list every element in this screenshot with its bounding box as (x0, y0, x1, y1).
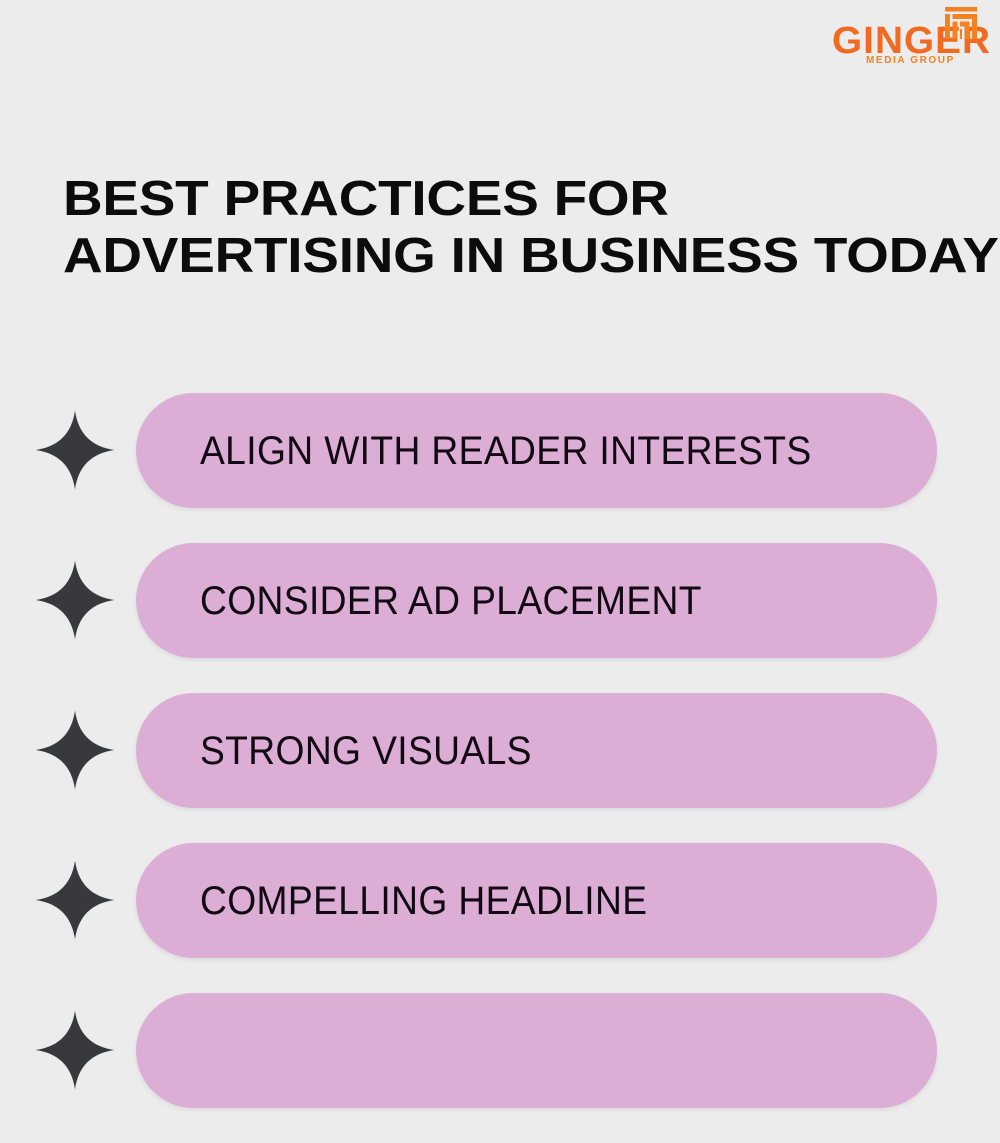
list-item[interactable]: ALIGN WITH READER INTERESTS (0, 393, 1000, 508)
four-point-star-icon (34, 859, 116, 941)
brand-logo[interactable]: GINGER MEDIA GROUP (822, 6, 992, 74)
list-item[interactable]: CONSIDER AD PLACEMENT (0, 543, 1000, 658)
practice-pill[interactable]: ALIGN WITH READER INTERESTS (136, 393, 937, 508)
practice-pill[interactable]: CONSIDER AD PLACEMENT (136, 543, 937, 658)
four-point-star-icon (34, 1009, 116, 1091)
practice-label: STRONG VISUALS (200, 731, 532, 771)
four-point-star-icon (34, 409, 116, 491)
practice-pill[interactable]: COMPELLING HEADLINE (136, 843, 937, 958)
page-title: BEST PRACTICES FOR ADVERTISING IN BUSINE… (63, 171, 1000, 285)
practice-pill[interactable] (136, 993, 937, 1108)
practice-label: COMPELLING HEADLINE (200, 881, 647, 921)
practice-label: CONSIDER AD PLACEMENT (200, 581, 702, 621)
list-item[interactable]: COMPELLING HEADLINE (0, 843, 1000, 958)
practice-list: ALIGN WITH READER INTERESTS CONSIDER AD … (0, 393, 1000, 1143)
four-point-star-icon (34, 559, 116, 641)
list-item[interactable]: STRONG VISUALS (0, 693, 1000, 808)
four-point-star-icon (34, 709, 116, 791)
brand-tagline: MEDIA GROUP (866, 56, 955, 66)
practice-pill[interactable]: STRONG VISUALS (136, 693, 937, 808)
list-item[interactable] (0, 993, 1000, 1108)
nested-squares-icon (944, 6, 978, 40)
practice-label: ALIGN WITH READER INTERESTS (200, 431, 812, 471)
